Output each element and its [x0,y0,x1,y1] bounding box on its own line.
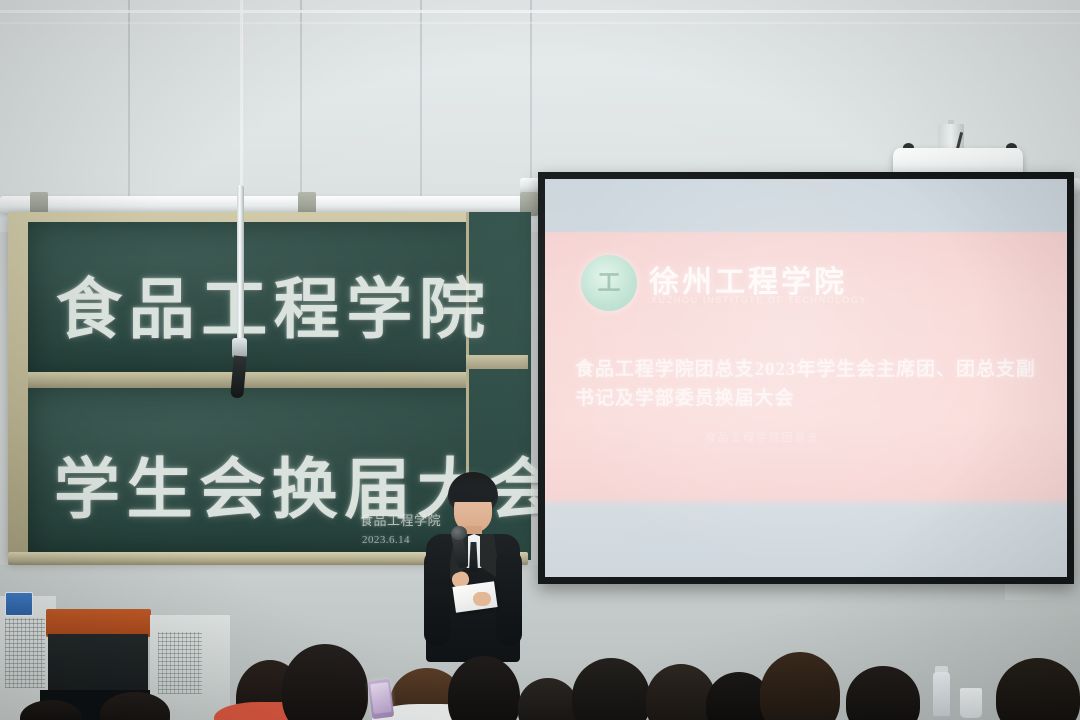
blackboard-right-rail [466,355,528,369]
blackboard-panel-rail [28,372,510,388]
audience-head [760,652,840,720]
slide-subtitle: 食品工程学院团总支 [705,429,820,445]
audience-head [846,666,920,720]
audience-head [572,658,650,720]
audience-head [100,692,170,720]
blackboard-heading-line1: 食品工程学院 [56,256,492,352]
water-bottle [933,672,950,716]
university-logo-icon: 工 [581,255,637,311]
light-rail [0,196,540,213]
wall-seam [420,0,422,196]
audience-head [448,656,520,720]
presenter-arm-right [496,550,522,646]
wall-seam [530,0,532,178]
presenter-fringe [450,484,496,502]
wall-seam [128,0,130,200]
wall-seam [300,0,302,196]
presenter [418,472,528,662]
presenter-arm-left [424,550,450,646]
logo-glyph: 工 [595,268,623,298]
presenter-hand-holding-notes [473,592,491,606]
hanging-microphone-rod [237,185,244,340]
lectern-desktop [46,609,151,637]
slide-title: 食品工程学院团总支2023年学生会主席团、团总支副书记及学部委员换届大会 [575,355,1041,414]
microphone-wire [240,0,243,190]
ceiling-line [0,22,1080,24]
audience-phone-screen [370,682,392,714]
audience-head [282,644,368,720]
blackboard-date: 2023.6.14 [362,534,410,546]
ceiling-line [0,10,1080,13]
projection-screen-frame: 工 徐州工程学院 XUZHOU INSTITUTE OF TECHNOLOGY … [538,172,1074,584]
slide-brand-name-en: XUZHOU INSTITUTE OF TECHNOLOGY [651,295,867,305]
blue-wall-sign [5,592,33,616]
audience-head [20,700,82,720]
projection-screen-surface: 工 徐州工程学院 XUZHOU INSTITUTE OF TECHNOLOGY … [545,179,1067,577]
audience-head [996,658,1080,720]
classroom-photo: 食品工程学院 学生会换届大会 食品工程学院 2023.6.14 工 徐州工程学院… [0,0,1080,720]
audience [0,636,1080,720]
paper-cup [960,688,982,718]
audience-head [518,678,578,720]
